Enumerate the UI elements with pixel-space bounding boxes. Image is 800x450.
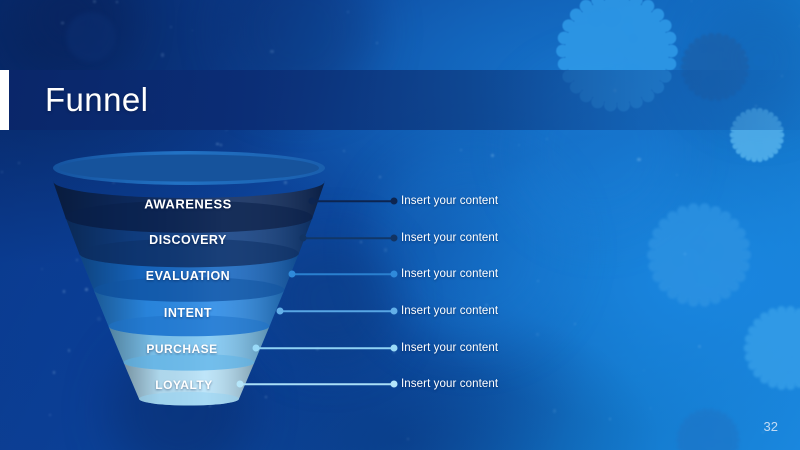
callout-connector-line — [280, 310, 394, 312]
background-sparkle — [347, 11, 349, 13]
callout-start-dot-icon — [309, 198, 316, 205]
background-sparkle — [49, 414, 50, 415]
callout-start-dot-icon — [253, 345, 260, 352]
background-sparkle — [270, 50, 273, 53]
callout-connector-line — [256, 347, 394, 349]
background-sparkle — [518, 144, 520, 146]
funnel-stage-intent[interactable]: INTENT — [164, 306, 212, 320]
callout-text-3[interactable]: Insert your content — [401, 268, 498, 280]
background-sparkle — [553, 409, 556, 412]
virus-edge-right-icon — [738, 300, 800, 396]
background-sparkle — [61, 22, 64, 25]
virus-large-mid-icon — [640, 196, 758, 314]
background-sparkle — [209, 405, 211, 407]
background-sparkle — [637, 158, 640, 161]
callout-end-dot-icon — [391, 271, 398, 278]
funnel-stage-purchase[interactable]: PURCHASE — [146, 342, 217, 356]
funnel-stage-loyalty[interactable]: LOYALTY — [155, 378, 213, 392]
callout-text-4[interactable]: Insert your content — [401, 305, 498, 317]
background-sparkle — [379, 176, 381, 178]
background-sparkle — [161, 53, 164, 56]
funnel-stage-evaluation[interactable]: EVALUATION — [146, 269, 230, 283]
callout-connector-line — [312, 200, 394, 202]
page-number: 32 — [764, 419, 778, 434]
background-sparkle — [116, 1, 118, 3]
callout-end-dot-icon — [391, 235, 398, 242]
callout-end-dot-icon — [391, 308, 398, 315]
callout-connector-line — [292, 273, 394, 275]
callout-end-dot-icon — [391, 381, 398, 388]
title-accent-bar — [0, 70, 9, 130]
funnel-stage-awareness[interactable]: AWARENESS — [144, 197, 232, 212]
callout-connector-line — [240, 383, 394, 385]
callout-start-dot-icon — [289, 271, 296, 278]
virus-bottom-right-icon — [672, 404, 744, 450]
background-sparkle — [698, 345, 701, 348]
callout-text-5[interactable]: Insert your content — [401, 342, 498, 354]
slide-canvas: Funnel AWARENESSDISCOVERYEVALUA — [0, 0, 800, 450]
callout-text-2[interactable]: Insert your content — [401, 232, 498, 244]
funnel-stage-discovery[interactable]: DISCOVERY — [149, 233, 227, 247]
background-sparkle — [18, 162, 20, 164]
background-sparkle — [220, 144, 222, 146]
callout-end-dot-icon — [391, 198, 398, 205]
background-sparkle — [360, 241, 362, 243]
callout-connector-line — [303, 237, 394, 239]
callout-start-dot-icon — [237, 381, 244, 388]
background-sparkle — [745, 55, 746, 56]
page-title: Funnel — [45, 70, 148, 130]
callout-end-dot-icon — [391, 345, 398, 352]
funnel-chart: AWARENESSDISCOVERYEVALUATIONINTENTPURCHA… — [34, 150, 344, 405]
virus-faint-left-icon — [62, 8, 120, 66]
background-sparkle — [536, 333, 539, 336]
callout-start-dot-icon — [277, 308, 284, 315]
background-sparkle — [376, 42, 378, 44]
background-sparkle — [460, 149, 462, 151]
background-sparkle — [491, 154, 494, 157]
background-sparkle — [691, 0, 692, 1]
callout-text-1[interactable]: Insert your content — [401, 195, 498, 207]
callout-text-6[interactable]: Insert your content — [401, 378, 498, 390]
callout-start-dot-icon — [300, 235, 307, 242]
